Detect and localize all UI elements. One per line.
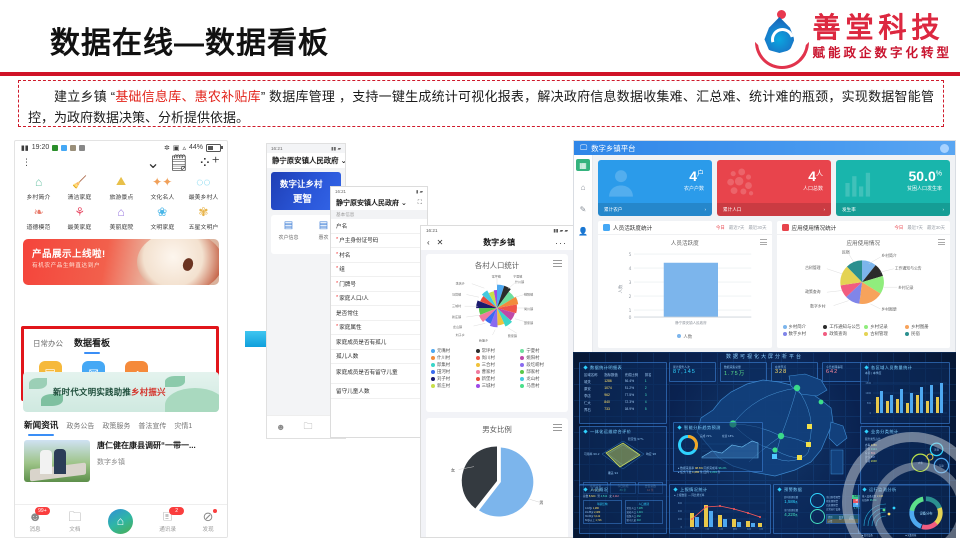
legend-item[interactable]: 刘子村 — [431, 376, 474, 382]
svg-text:三城村: 三城村 — [452, 303, 461, 308]
user-activity-icon — [603, 224, 610, 231]
legend-item[interactable]: 工作通知与公告 — [823, 324, 862, 330]
tab-disaster[interactable]: 灾情1 — [174, 421, 192, 431]
form-field-row[interactable]: *门牌号 — [331, 277, 427, 292]
legend-item[interactable]: 宁夏村 — [520, 348, 563, 354]
shield-icon: ▣ — [173, 144, 180, 152]
filter-today[interactable]: 今日 — [716, 225, 725, 231]
app-label: 旅游景点 — [109, 192, 133, 201]
svg-text:200: 200 — [678, 518, 683, 521]
bottom-tabbar: ☻ 99+ 消息 🗀 文档 ⌂ 🗉 2 通讯录 ⊘ 发现 — [15, 504, 227, 537]
app-icon — [61, 145, 67, 151]
folder-icon[interactable]: 🗀 — [304, 419, 313, 435]
svg-text:0: 0 — [870, 412, 872, 415]
app-tile[interactable]: ✦✦ 文化名人 — [142, 173, 183, 201]
chevron-right-icon[interactable]: › — [942, 207, 944, 212]
rose-chart-legend: 元嘴村 常坪村 宁夏村 什川村 尚川村 姚阳村 邸集村 三合村 段圪崂村 田河村… — [426, 344, 568, 395]
legend-item[interactable]: 邸家村 — [520, 369, 563, 375]
hamburger-icon[interactable] — [553, 260, 562, 267]
pie-label-female: 女 — [451, 466, 455, 473]
banner-subtitle: 有机农产品生鲜直达到户 — [32, 261, 100, 269]
monitor-icon: 🖵 — [580, 143, 587, 153]
svg-text:政策查询: 政策查询 — [805, 289, 821, 294]
app-tile[interactable]: ⛰ 旅游景点 — [100, 173, 141, 201]
svg-text:响应 98: 响应 98 — [646, 452, 656, 456]
app-tile[interactable]: ⌂ 乡村简介 — [18, 173, 59, 201]
more-vertical-icon[interactable]: ⋮ — [22, 157, 31, 168]
rose-chart: 李店乡 马营镇 三城村 新庄镇 龙山镇 刘子乡 新堡乡 曹家镇 邸家镇 尚川镇 … — [451, 272, 543, 344]
legend-item[interactable]: 数字乡村 — [783, 331, 822, 337]
chart-title: 各村人口统计 — [426, 254, 568, 271]
svg-text:2: 2 — [629, 294, 632, 300]
app-usage-icon — [782, 224, 789, 231]
kpi-foot: 发生率 — [842, 207, 856, 213]
app-tile[interactable]: ◌◌ 最美乡村人 — [183, 173, 224, 201]
phone-toolbar: ⋮ ⌄ 🗒 ⁘⁺ — [15, 154, 227, 171]
form-field-row[interactable]: *户主身份证号码 — [331, 234, 427, 249]
badge-count: 99+ — [35, 507, 50, 515]
svg-text:刘子乡: 刘子乡 — [456, 332, 465, 337]
svg-text:邸家镇: 邸家镇 — [524, 320, 533, 325]
legend-item[interactable]: 姚阳村 — [520, 355, 563, 361]
kpi-cards: 4户 农户户数 累计农户› 4人 人口总数 — [598, 160, 950, 216]
battery-icon — [206, 144, 221, 152]
water-drop-logo-icon — [753, 9, 805, 65]
gov-header: 静宁原安镇人民政府 ⌄ ⛶ — [267, 153, 345, 168]
legend-item[interactable]: 尚川村 — [476, 355, 519, 361]
tab-daily-office[interactable]: 日常办公 — [33, 338, 63, 349]
svg-text:三月: 三月 — [719, 527, 723, 531]
company-logo: 善堂科技 赋能政企数字化转型 — [753, 6, 952, 68]
svg-text:一月: 一月 — [691, 527, 695, 531]
form-field-row[interactable]: 孤儿人数 — [331, 350, 427, 365]
svg-text:1: 1 — [629, 308, 632, 314]
card-label: 农户信息 — [278, 234, 298, 241]
svg-text:1500: 1500 — [865, 382, 871, 385]
svg-text:500: 500 — [867, 402, 872, 405]
legend-item[interactable]: 段圪崂村 — [520, 362, 563, 368]
legend-item[interactable]: 邸集村 — [431, 362, 474, 368]
edit-note-icon[interactable]: 🗒 — [169, 153, 189, 173]
svg-text:新庄镇: 新庄镇 — [452, 314, 461, 319]
kpi-label: 人口总数 — [803, 185, 823, 192]
bigdata-bar-panel: 各区域人员数量统计 本月 | 本季度 050010001500 — [860, 362, 950, 424]
status-time: 16:21 — [271, 146, 283, 151]
bigdata-title: 数据可视化大屏分析平台 — [573, 353, 956, 360]
svg-text:古树管理: 古树管理 — [805, 265, 821, 270]
chart-page-header: ‹ ✕ 数字乡镇 ··· — [421, 235, 573, 250]
form-field-row[interactable]: *家庭人口/人 — [331, 292, 427, 307]
legend-item[interactable]: 民宿 — [905, 331, 944, 337]
field-label: 家庭成员是否有孤儿 — [336, 338, 386, 346]
chevron-right-icon[interactable]: › — [823, 207, 825, 212]
tab-law-promotion[interactable]: 普法宣传 — [138, 421, 166, 431]
ribbon-icon: ❧ — [29, 203, 48, 220]
kpi-value: 4户 — [689, 169, 704, 183]
field-label: 户名 — [336, 222, 347, 230]
sidebar-item-dashboard[interactable]: ▦ — [576, 159, 590, 171]
status-icons: ▮▮ ▰ ▰ — [553, 228, 568, 234]
gov-title[interactable]: 静宁原安镇人民政府 ⌄ — [272, 155, 346, 166]
svg-text:乡村图册: 乡村图册 — [881, 307, 897, 312]
phone-home-screenshot: ▮▮ 19:20 ✲ ▣ ▵ 44% ⋮ ⌄ 🗒 ⁘⁺ — [14, 140, 228, 538]
hamburger-icon[interactable] — [760, 239, 767, 245]
field-label: 是否常住 — [336, 309, 358, 317]
app-label: 道德模范 — [27, 222, 51, 231]
gear-icon — [79, 145, 85, 151]
app-label: 最美乡村人 — [189, 192, 219, 201]
legend-item[interactable]: 马营村 — [520, 383, 563, 389]
signal-icon: ▮▮ — [21, 144, 29, 152]
chevron-right-icon[interactable]: › — [704, 207, 706, 212]
filter-30days[interactable]: 最近30天 — [748, 225, 766, 231]
svg-text:5: 5 — [629, 252, 632, 258]
chart-title: 人员活跃度 — [602, 239, 768, 247]
svg-text:完成 72%: 完成 72% — [700, 434, 712, 438]
svg-text:400: 400 — [678, 510, 683, 513]
kpi-value: 4人 — [808, 169, 823, 183]
village-icon: ⌂ — [29, 173, 48, 190]
svg-text:民宿: 民宿 — [841, 250, 849, 255]
dashboard-title: 数字乡镇平台 — [591, 143, 635, 154]
app-label: 五星文明户 — [189, 222, 219, 231]
svg-text:乡村简介: 乡村简介 — [881, 253, 897, 258]
filter-7days[interactable]: 最近7天 — [729, 225, 745, 231]
app-tile[interactable]: ✾ 五星文明户 — [183, 203, 224, 231]
avatar[interactable] — [940, 144, 949, 153]
form-field-row[interactable]: 是否常住 — [331, 306, 427, 321]
wifi-icon: ▵ — [182, 144, 186, 152]
svg-text:静宁原安镇人民政府: 静宁原安镇人民政府 — [675, 320, 707, 325]
app-label: 最美家庭 — [68, 222, 92, 231]
app-label: 美丽庭院 — [109, 222, 133, 231]
legend-item[interactable]: 常坪村 — [476, 348, 519, 354]
flower-icon: ❀ — [153, 203, 172, 220]
svg-text:0: 0 — [681, 526, 683, 529]
kpi-foot: 累计人口 — [723, 207, 741, 213]
svg-text:乡村记录: 乡村记录 — [898, 285, 914, 290]
tabbar-item-home[interactable]: ⌂ — [108, 509, 133, 534]
svg-text:1000: 1000 — [865, 392, 871, 395]
field-label: 留守儿童人数 — [336, 387, 370, 395]
app-grid: ⌂ 乡村简介 🧹 清洁家庭 ⛰ 旅游景点 ✦✦ 文化名人 ◌◌ 最美乡村人 ❧ … — [15, 171, 227, 235]
form-icon: ▤ — [319, 220, 328, 231]
legend-item[interactable]: 乡村简介 — [783, 324, 822, 330]
chart-title: 男女比例 — [426, 418, 568, 435]
svg-text:工作通知与公告: 工作通知与公告 — [894, 266, 921, 271]
tabbar-item-contacts[interactable]: 🗉 2 通讯录 — [159, 510, 176, 533]
legend-label[interactable]: 人数 — [683, 334, 692, 339]
field-label: 家庭属性 — [339, 323, 361, 331]
close-icon[interactable]: ✕ — [437, 238, 444, 247]
broom-icon: 🧹 — [70, 173, 89, 190]
legend-item[interactable]: 三合村 — [476, 362, 519, 368]
filter-today[interactable]: 今日 — [895, 225, 904, 231]
filter-30days[interactable]: 最近30天 — [927, 225, 945, 231]
svg-text:尚川镇: 尚川镇 — [524, 306, 533, 311]
form-field-row[interactable]: *村名 — [331, 248, 427, 263]
app-tile[interactable]: ❀ 文明家庭 — [142, 203, 183, 231]
app-label: 文化名人 — [150, 192, 174, 201]
svg-text:曹家镇: 曹家镇 — [508, 333, 517, 338]
legend-item[interactable]: 曹家村 — [476, 369, 519, 375]
dashboard-header: 🖵数字乡镇平台 — [574, 141, 955, 155]
field-label: 孤儿人数 — [336, 352, 358, 360]
mail-icon — [70, 145, 76, 151]
kpi-foot: 累计农户 — [604, 207, 622, 213]
tab-gov-notice[interactable]: 政务公告 — [66, 421, 94, 431]
app-usage-panel: 应用使用情况统计 今日 最近7天 最近30天 应用使用情况 — [777, 221, 951, 348]
required-marker: * — [336, 252, 338, 258]
panel-title: 应用使用情况统计 — [792, 224, 837, 232]
status-icons: ▮▮ ▰ — [331, 146, 341, 152]
battery-percent: 44% — [189, 144, 203, 151]
form-section-label: 基本信息 — [331, 210, 427, 219]
badge-count: 2 — [169, 507, 184, 515]
form-field-row[interactable]: 户名 — [331, 219, 427, 234]
house-icon: ⌂ — [111, 203, 130, 220]
news-thumbnail — [24, 440, 90, 482]
svg-text:什川镇: 什川镇 — [515, 279, 524, 284]
bigdata-radar-panel: 一体化运维综合评价 稳定性 97%响应 98 可用率 99.2覆盖 94 在线设… — [579, 426, 667, 486]
rose-label: 李店乡 — [456, 281, 465, 286]
activity-bar-chart: 012 345 人数 静宁原安镇人民政府 — [602, 247, 768, 331]
svg-text:覆盖 94: 覆盖 94 — [608, 471, 618, 475]
tab-label: 通讯录 — [159, 525, 176, 533]
more-icon[interactable]: ··· — [555, 238, 567, 248]
tab-databoard[interactable]: 数据看板 — [74, 336, 110, 349]
page-title: 数据在线—数据看板 — [50, 18, 329, 62]
databoard-tabs: 日常办公 数据看板 — [24, 329, 216, 349]
form-field-row[interactable]: 家庭成员是否有孤儿 — [331, 335, 427, 350]
sidebar-item-house[interactable]: ⌂ — [576, 181, 590, 193]
civilization-banner[interactable]: 新时代文明实践助推乡村振兴 — [23, 372, 219, 412]
svg-text:龙山镇: 龙山镇 — [453, 324, 462, 329]
card-label: 惠农 — [318, 234, 328, 241]
tab-label: 发现 — [203, 525, 214, 533]
kpi-label: 农户户数 — [684, 185, 704, 192]
news-tabs: 新闻资讯 政务公告 政策服务 普法宣传 灾情1 — [15, 412, 227, 431]
population-chart-card: 各村人口统计 — [426, 254, 568, 412]
field-label: 家庭人口/人 — [339, 294, 369, 302]
star-icon: ✾ — [194, 203, 213, 220]
description-text: 建立乡镇 “基础信息库、惠农补贴库” 数据库管理 ，支持一键生成统计可视化报表，… — [19, 81, 943, 128]
field-label: 门牌号 — [339, 280, 356, 288]
svg-text:宁夏镇: 宁夏镇 — [513, 273, 522, 278]
kpi-card-poverty-rate[interactable]: 50.0% 贫困人口发生率 发生率› — [836, 160, 950, 216]
filter-7days[interactable]: 最近7天 — [907, 225, 923, 231]
logo-company-name: 善堂科技 — [812, 14, 952, 42]
form-field-row[interactable]: 留守儿童人数 — [331, 384, 427, 399]
scan-icon[interactable]: ⛶ — [418, 200, 422, 207]
required-marker: * — [336, 281, 338, 287]
bigdata-table-panel: 数据统计明细表 区域名称指标数值完成比例排名 城关128686.4%1 原安10… — [579, 362, 667, 424]
wechat-icon — [52, 145, 58, 151]
status-time: 16:21 — [426, 228, 438, 233]
gender-pie-chart: 女 男 — [449, 437, 545, 527]
chart-title: 应用使用情况 — [781, 239, 947, 247]
svg-text:3: 3 — [629, 280, 632, 286]
app-label: 清洁家庭 — [68, 192, 92, 201]
news-list-item[interactable]: 唐仁健在康县调研“一带一... 数字乡镇 — [15, 431, 227, 482]
svg-text:五月: 五月 — [747, 527, 751, 531]
tab-label: 消息 — [29, 525, 40, 533]
folder-icon: 🗀 — [68, 510, 81, 523]
add-user-icon[interactable]: ⁘⁺ — [198, 153, 220, 173]
banner-line2: 更智 — [293, 191, 312, 205]
required-marker: * — [336, 324, 338, 330]
legend-item[interactable]: 什川村 — [431, 355, 474, 361]
kpi-value: 50.0% — [909, 169, 942, 183]
sidebar-item-person[interactable]: 👤 — [576, 225, 590, 237]
svg-text:四月: 四月 — [733, 527, 737, 531]
person-icon: ✦✦ — [153, 173, 172, 190]
banner-title: 产品展示上线啦! — [32, 246, 106, 260]
svg-text:600: 600 — [678, 502, 683, 505]
web-dashboard-screenshot: 🖵数字乡镇平台 ▦ ⌂ ✎ 👤 4户 农户户数 累计农户› — [573, 140, 956, 354]
form-icon: ▤ — [284, 220, 293, 231]
svg-text:0: 0 — [629, 315, 632, 321]
svg-text:六月: 六月 — [759, 527, 763, 531]
news-source: 数字乡镇 — [97, 457, 218, 467]
slide: 数据在线—数据看板 善堂科技 赋能政企数字化转型 建立乡镇 “基础信息库、惠农补… — [0, 0, 960, 540]
legend-item[interactable]: 新庄村 — [431, 383, 474, 389]
status-time: 19:20 — [32, 144, 50, 151]
description-highlight: 基础信息库、惠农补贴库 — [115, 89, 261, 104]
tabbar-item-messages[interactable]: ☻ 99+ 消息 — [28, 510, 42, 533]
legend-item[interactable]: 政策查询 — [823, 331, 862, 337]
phone-status-bar: 16:21 ▮▮ ▰ ▰ — [421, 226, 573, 235]
svg-text:可用率 99.2: 可用率 99.2 — [584, 452, 600, 456]
medal-icon: ◌◌ — [194, 173, 213, 190]
svg-text:数字乡村: 数字乡村 — [810, 303, 826, 308]
compass-icon: ⊘ — [203, 510, 214, 523]
field-label: 户主身份证号码 — [339, 236, 378, 244]
svg-text:二月: 二月 — [705, 527, 709, 531]
required-marker: * — [336, 295, 338, 301]
form-header: 静宁原安镇人民政府 ⌄ ⛶ — [331, 196, 427, 210]
app-tile[interactable]: ⚘ 最美家庭 — [59, 203, 100, 231]
status-icons: ▮ ▰ — [416, 189, 423, 195]
family-icon: ⚘ — [70, 203, 89, 220]
product-banner[interactable]: 产品展示上线啦! 有机农产品生鲜直达到户 — [23, 239, 219, 285]
phone-status-bar: 16:21 ▮ ▰ — [331, 187, 427, 196]
tabbar-item-documents[interactable]: 🗀 文档 — [68, 510, 81, 533]
bigdata-screen-screenshot: 数据可视化大屏分析平台 数据统计明细表 区域名称指标数值完成比例排名 城关128… — [573, 352, 956, 538]
app-label: 文明家庭 — [150, 222, 174, 231]
form-title[interactable]: 静宁原安镇人民政府 ⌄ — [336, 198, 407, 208]
form-field-row[interactable]: 家庭成员是否有留守儿童 — [331, 364, 427, 384]
field-label: 组 — [339, 265, 345, 273]
legend-item[interactable]: 田河村 — [431, 369, 474, 375]
legend-item[interactable]: 新堡村 — [476, 376, 519, 382]
panel-title: 人员活跃度统计 — [613, 224, 652, 232]
camera-icon: ⛰ — [111, 173, 130, 190]
kpi-label: 贫困人口发生率 — [907, 185, 942, 192]
form-field-row[interactable]: *组 — [331, 263, 427, 278]
notification-dot — [213, 509, 217, 513]
sidebar-item-edit[interactable]: ✎ — [576, 203, 590, 215]
tab-label: 文档 — [69, 525, 80, 533]
legend-item[interactable]: 古树管理 — [864, 331, 903, 337]
svg-text:常坪镇: 常坪镇 — [492, 273, 501, 278]
svg-text:姚阳镇: 姚阳镇 — [524, 291, 533, 296]
description-part1: 建立乡镇 “ — [54, 89, 115, 104]
hamburger-icon[interactable] — [553, 424, 562, 431]
bigdata-inset-chart-panel: 智能分析趋势预测 完成 72%在途 18% ▸ 数据采集率 98.6% 同步完成… — [673, 422, 763, 472]
field-label: 村名 — [339, 251, 350, 259]
bigdata-population-panel: 人员概况 总数 8,624 男 4,512 女 4,112 年龄结构 0-18岁… — [579, 484, 667, 534]
chevron-down-icon[interactable]: ⌄ — [146, 153, 159, 173]
chat-icon[interactable]: ☻ — [276, 422, 285, 432]
phone-form-screenshot: 16:21 ▮ ▰ 静宁原安镇人民政府 ⌄ ⛶ 基本信息 户名 *户主身份证号码… — [330, 186, 428, 438]
field-label: 家庭成员是否有留守儿童 — [336, 370, 398, 377]
svg-text:新堡乡: 新堡乡 — [479, 337, 488, 342]
kpi-card-population[interactable]: 4人 人口总数 累计人口› — [717, 160, 831, 216]
app-tile[interactable]: 🧹 清洁家庭 — [59, 173, 100, 201]
chart-page-title: 数字乡镇 — [483, 237, 515, 248]
legend-item[interactable]: 元嘴村 — [431, 348, 474, 354]
chevron-left-icon[interactable]: ‹ — [427, 238, 430, 247]
legend-item[interactable]: 乡村图册 — [905, 324, 944, 330]
activity-panel: 人员活跃度统计 今日 最近7天 最近30天 人员活跃度 — [598, 221, 772, 348]
svg-text:4: 4 — [629, 266, 632, 272]
home-icon: ⌂ — [108, 509, 133, 534]
banner-line1: 数字让乡村 — [280, 178, 323, 190]
phone-status-bar: 16:21 ▮▮ ▰ — [267, 144, 345, 153]
svg-text:马营镇: 马营镇 — [452, 291, 461, 296]
form-field-row[interactable]: *家庭属性 — [331, 321, 427, 336]
dashboard-sidebar: ▦ ⌂ ✎ 👤 — [574, 155, 593, 353]
legend-item[interactable]: 龙山村 — [520, 376, 563, 382]
svg-text:在途 18%: 在途 18% — [722, 434, 734, 438]
gender-chart-card: 男女比例 女 男 — [426, 418, 568, 538]
logo-slogan: 赋能政企数字化转型 — [812, 47, 952, 60]
news-title: 唐仁健在康县调研“一带一... — [97, 440, 218, 451]
legend-dot — [677, 334, 681, 338]
tabbar-item-discover[interactable]: ⊘ 发现 — [203, 510, 214, 533]
svg-text:人数: 人数 — [617, 284, 624, 293]
app-label: 乡村简介 — [27, 192, 51, 201]
hamburger-icon[interactable] — [938, 239, 945, 245]
description-box: 建立乡镇 “基础信息库、惠农补贴库” 数据库管理 ，支持一键生成统计可视化报表，… — [18, 80, 944, 127]
pie-label-male: 男 — [539, 500, 543, 506]
bigdata-trend-panel: 上报情况统计 ● 上报数量 — 同比增长率 0200400600 — [669, 484, 771, 534]
legend-item[interactable]: 三城村 — [476, 383, 519, 389]
svg-text:稳定性 97%: 稳定性 97% — [628, 437, 644, 441]
app-tile[interactable]: ⌂ 美丽庭院 — [100, 203, 141, 231]
header-divider — [0, 72, 960, 76]
bluetooth-icon: ✲ — [164, 144, 170, 152]
tab-policy-service[interactable]: 政策服务 — [102, 421, 130, 431]
status-time: 16:21 — [335, 189, 346, 194]
legend-item[interactable]: 乡村记录 — [864, 324, 903, 330]
quick-card[interactable]: ▤ 农户信息 — [271, 220, 306, 254]
kpi-card-households[interactable]: 4户 农户户数 累计农户› — [598, 160, 712, 216]
required-marker: * — [336, 237, 338, 243]
phone-charts-screenshot: 16:21 ▮▮ ▰ ▰ ‹ ✕ 数字乡镇 ··· 各村人口统计 — [420, 225, 574, 538]
app-tile[interactable]: ❧ 道德模范 — [18, 203, 59, 231]
tab-news[interactable]: 新闻资讯 — [24, 419, 58, 431]
required-marker: * — [336, 266, 338, 272]
banner-text: 新时代文明实践助推乡村振兴 — [53, 386, 166, 398]
app-usage-pie-chart: 乡村简介工作通知与公告 乡村记录乡村图册 数字乡村政策查询 古树管理民宿 — [781, 247, 947, 319]
